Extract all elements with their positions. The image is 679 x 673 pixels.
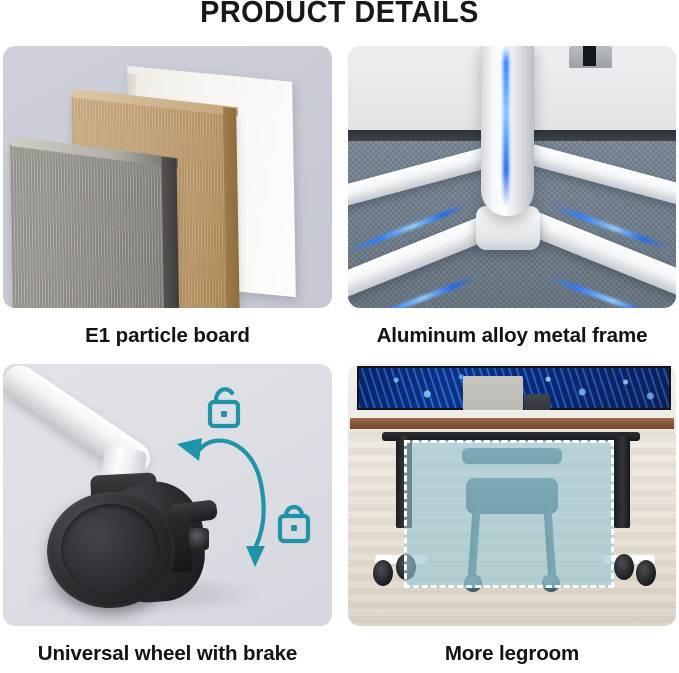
desk-leg-right (614, 436, 630, 528)
metal-frame-image (348, 46, 676, 308)
legroom-highlight-area (404, 440, 614, 588)
board-gray (9, 143, 172, 308)
page-title: PRODUCT DETAILS (24, 0, 655, 29)
more-legroom-image (348, 364, 676, 626)
brake-annotation-group (3, 364, 332, 626)
arrow-head-down (246, 546, 265, 567)
panel-more-legroom[interactable]: More legroom (348, 364, 676, 626)
curved-arrow-icon (199, 441, 264, 548)
column-blue-glow (503, 46, 509, 206)
wall-fixture-detail (569, 46, 612, 68)
desk-caster-front-right (636, 560, 656, 586)
desk-caster-front-left (373, 560, 393, 586)
panel-caption: Universal wheel with brake (3, 642, 332, 666)
particle-board-image (3, 46, 332, 308)
panel-metal-frame[interactable]: Aluminum alloy metal frame (348, 46, 676, 308)
universal-wheel-image (3, 364, 332, 626)
arrow-head-up (177, 438, 202, 461)
panel-caption: More legroom (348, 642, 676, 666)
panel-universal-wheel[interactable]: Universal wheel with brake (3, 364, 332, 626)
panel-particle-board[interactable]: E1 particle board (3, 46, 332, 308)
product-details-infographic: PRODUCT DETAILS E1 particle board (0, 0, 679, 673)
lock-icon (280, 507, 308, 541)
panel-caption: E1 particle board (3, 324, 332, 348)
board-stack (3, 46, 332, 308)
desk-caster-back-right (614, 554, 634, 580)
unlock-icon (210, 389, 238, 426)
board-gray-side-edge (161, 157, 179, 308)
panel-grid: E1 particle board Aluminum al (3, 46, 676, 666)
panel-caption: Aluminum alloy metal frame (348, 324, 676, 348)
